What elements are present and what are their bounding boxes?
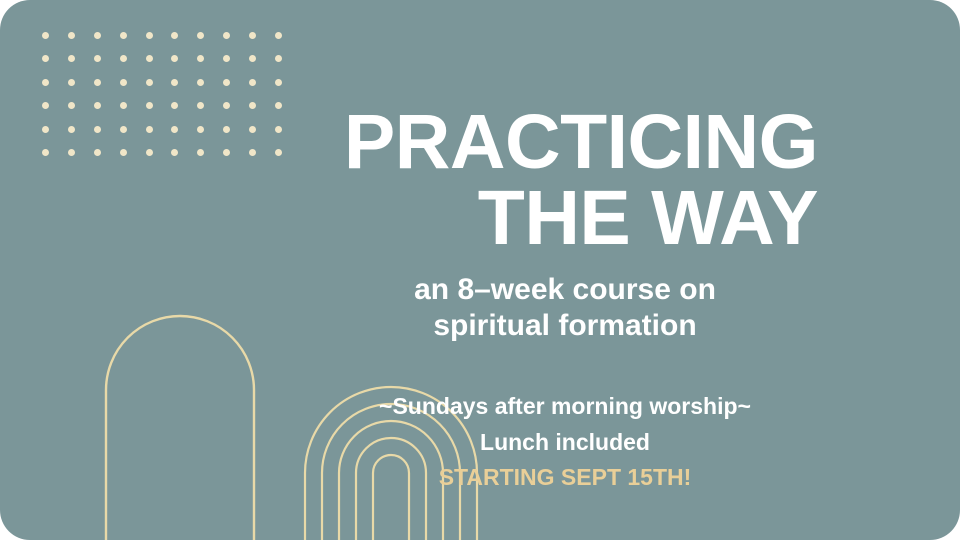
dot-icon [197,149,204,156]
dot-icon [146,55,153,62]
dot-icon [68,55,75,62]
dot-icon [68,79,75,86]
dot-icon [249,79,256,86]
dot-icon [120,149,127,156]
dot-icon [42,126,49,133]
dot-icon [249,32,256,39]
dot-icon [42,102,49,109]
detail-line-start-date: STARTING SEPT 15TH! [300,460,830,496]
dot-grid-row [42,102,282,125]
dot-icon [94,32,101,39]
dot-icon [68,102,75,109]
dot-icon [120,55,127,62]
dot-icon [197,102,204,109]
dot-icon [68,32,75,39]
detail-line-lunch: Lunch included [300,425,830,461]
dot-icon [275,55,282,62]
dot-grid-row [42,149,282,172]
arch-outline-icon [100,308,270,540]
dot-icon [94,149,101,156]
poster-subtitle: an 8–week course on spiritual formation [300,272,830,345]
dot-icon [249,55,256,62]
dot-icon [223,149,230,156]
dot-icon [94,126,101,133]
dot-icon [223,32,230,39]
dot-icon [42,32,49,39]
page-title: PRACTICING THE WAY [298,104,818,256]
dot-icon [42,79,49,86]
dot-icon [120,126,127,133]
dot-icon [275,32,282,39]
dot-grid-row [42,55,282,78]
dot-icon [171,79,178,86]
dot-icon [42,149,49,156]
dot-icon [120,32,127,39]
dot-icon [94,102,101,109]
dot-icon [68,126,75,133]
dot-icon [223,126,230,133]
text-column: PRACTICING THE WAY an 8–week course on s… [300,0,830,540]
dot-icon [171,102,178,109]
dot-grid-icon [42,32,282,162]
dot-icon [146,126,153,133]
dot-icon [68,149,75,156]
dot-icon [94,79,101,86]
dot-icon [146,79,153,86]
dot-icon [171,126,178,133]
dot-icon [223,55,230,62]
dot-icon [146,149,153,156]
dot-icon [120,79,127,86]
dot-icon [249,102,256,109]
dot-icon [275,126,282,133]
dot-icon [146,32,153,39]
dot-icon [171,55,178,62]
dot-icon [197,32,204,39]
dot-icon [197,126,204,133]
dot-icon [197,79,204,86]
poster-canvas: PRACTICING THE WAY an 8–week course on s… [0,0,960,540]
dot-icon [171,32,178,39]
dot-icon [275,79,282,86]
dot-icon [223,79,230,86]
dot-grid-row [42,32,282,55]
dot-icon [249,149,256,156]
dot-icon [120,102,127,109]
dot-icon [94,55,101,62]
dot-grid-row [42,79,282,102]
dot-icon [249,126,256,133]
dot-icon [197,55,204,62]
dot-icon [171,149,178,156]
dot-icon [275,149,282,156]
event-details: ~Sundays after morning worship~ Lunch in… [300,389,830,496]
dot-grid-row [42,126,282,149]
dot-icon [42,55,49,62]
dot-icon [146,102,153,109]
detail-line-schedule: ~Sundays after morning worship~ [300,389,830,425]
dot-icon [275,102,282,109]
dot-icon [223,102,230,109]
